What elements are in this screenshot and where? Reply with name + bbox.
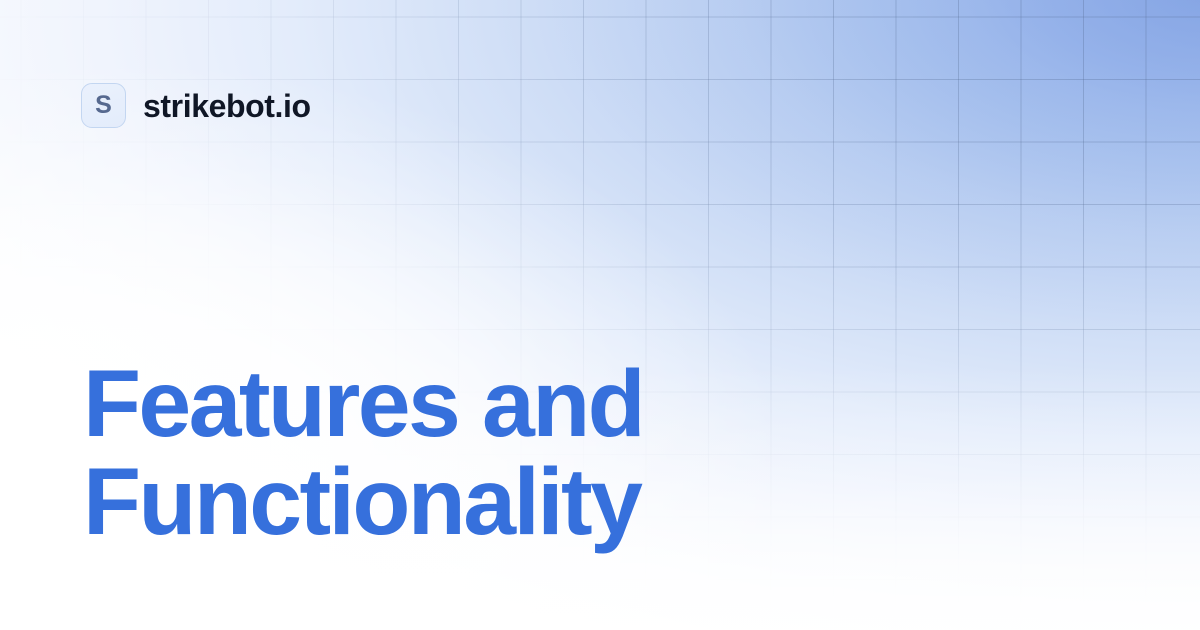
page-title: Features and Functionality [83, 355, 643, 551]
page-title-line-2: Functionality [83, 453, 643, 551]
brand-wordmark: strikebot.io [143, 90, 311, 122]
og-card: S strikebot.io Features and Functionalit… [0, 0, 1200, 630]
brand-lockup[interactable]: S strikebot.io [81, 83, 311, 128]
page-title-line-1: Features and [83, 355, 643, 453]
brand-logo-letter-icon: S [95, 93, 112, 118]
brand-logo-badge: S [81, 83, 126, 128]
card-content: S strikebot.io Features and Functionalit… [0, 0, 1200, 630]
